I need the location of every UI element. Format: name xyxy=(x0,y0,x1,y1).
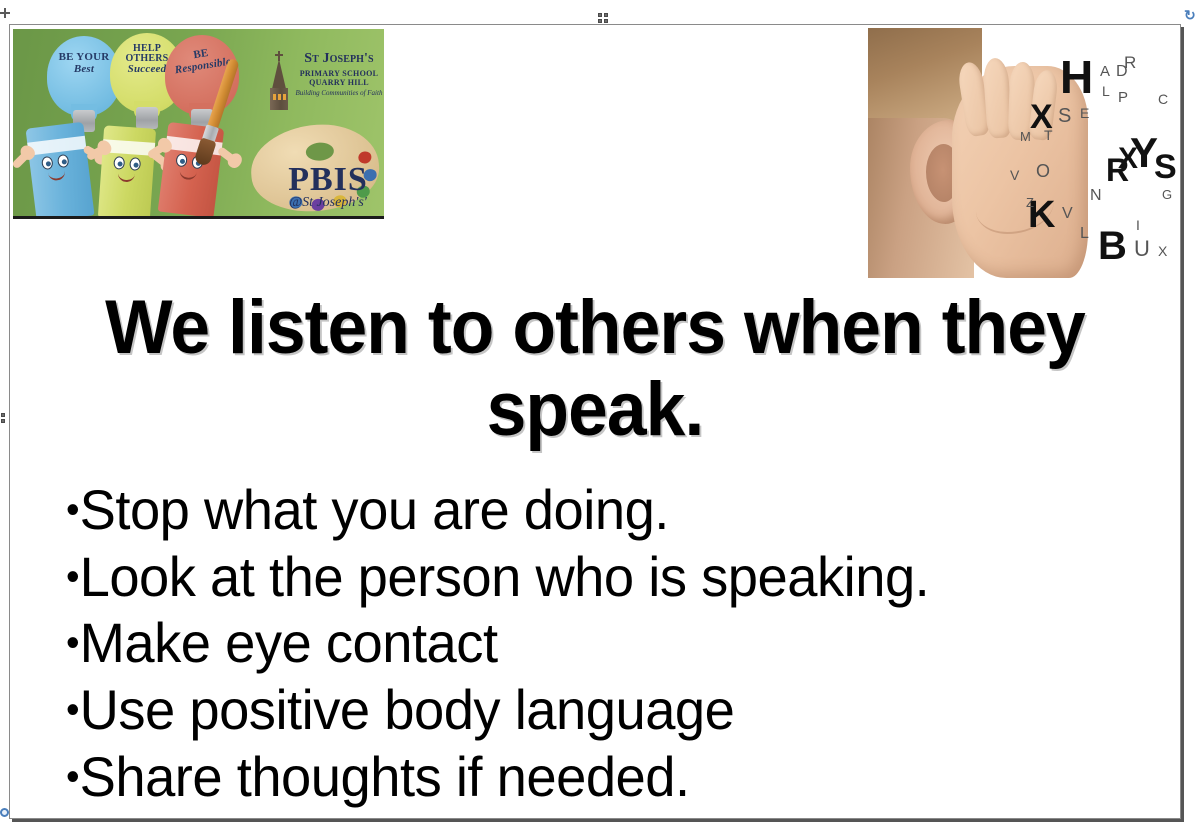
list-item-label: Make eye contact xyxy=(80,611,498,674)
eye-icon xyxy=(129,157,141,171)
handle-dot xyxy=(598,13,602,17)
floating-letter: I xyxy=(1136,218,1140,232)
tube-face xyxy=(39,153,77,179)
pbis-wordmark-sub: @St Joseph's' xyxy=(268,195,384,210)
floating-letter: H xyxy=(1060,54,1093,100)
floating-letter: B xyxy=(1098,226,1127,266)
paint-tube-character-green xyxy=(98,125,156,219)
eye-icon xyxy=(113,156,125,170)
list-item-label: Look at the person who is speaking. xyxy=(80,545,930,608)
floating-letter: O xyxy=(1036,162,1050,180)
window xyxy=(273,94,276,100)
bullet-icon: • xyxy=(66,488,80,532)
handle-dot xyxy=(1,419,5,423)
bullet-icon: • xyxy=(66,621,80,665)
pbis-banner-image[interactable]: BE YOUR Best HELP OTHERS Succeed xyxy=(13,29,384,219)
arm xyxy=(217,146,238,164)
handle-dot xyxy=(598,19,602,23)
window xyxy=(283,94,286,100)
school-name-block: St Joseph's PRIMARY SCHOOL QUARRY HILL B… xyxy=(289,51,384,97)
floating-letter: C xyxy=(1158,92,1168,106)
floating-letter: L xyxy=(1080,226,1089,242)
school-tagline: Building Communities of Faith xyxy=(289,89,384,97)
palette-thumb-hole xyxy=(305,142,334,162)
school-name-line2: PRIMARY SCHOOL xyxy=(289,69,384,78)
list-item[interactable]: •Look at the person who is speaking. xyxy=(66,544,1114,611)
tube-band xyxy=(27,136,86,156)
floating-letter: R xyxy=(1106,154,1129,186)
list-item[interactable]: •Share thoughts if needed. xyxy=(66,744,1114,811)
pbis-wordmark-main: PBIS xyxy=(268,163,384,197)
smile-icon xyxy=(117,171,135,182)
bullet-icon: • xyxy=(66,555,80,599)
corner-cross-marker[interactable] xyxy=(0,8,10,18)
list-item[interactable]: •Make eye contact xyxy=(66,610,1114,677)
window xyxy=(278,94,281,100)
list-item-label: Use positive body language xyxy=(80,678,735,741)
floating-letter: A xyxy=(1100,64,1110,79)
floating-letter: P xyxy=(1118,90,1128,105)
eye-icon xyxy=(41,156,54,170)
pbis-wordmark: PBIS @St Joseph's' xyxy=(268,163,384,210)
list-item[interactable]: •Stop what you are doing. xyxy=(66,477,1114,544)
slide-editor-canvas: ↻ BE YOUR Best HELP xyxy=(0,0,1200,832)
steeple-tower xyxy=(270,88,288,110)
eye-icon xyxy=(57,154,70,168)
floating-letter: N xyxy=(1090,188,1102,204)
handle-dot xyxy=(1,413,5,417)
church-steeple-icon xyxy=(268,51,290,113)
bulb-neck xyxy=(136,107,158,129)
handle-dot xyxy=(604,13,608,17)
slide-bullet-list[interactable]: •Stop what you are doing. •Look at the p… xyxy=(66,477,1146,810)
list-item-label: Share thoughts if needed. xyxy=(80,745,690,808)
floating-letter: X xyxy=(1158,244,1167,258)
floating-letter: Z xyxy=(1026,196,1034,209)
slide-frame[interactable]: BE YOUR Best HELP OTHERS Succeed xyxy=(9,24,1181,819)
floating-letter: V xyxy=(1062,206,1073,222)
mid-left-resize-handle[interactable] xyxy=(1,413,5,423)
floating-letter: D xyxy=(1116,64,1128,80)
floating-letter: S xyxy=(1154,150,1177,184)
rotate-icon[interactable]: ↻ xyxy=(1184,9,1197,22)
bottom-left-round-handle[interactable] xyxy=(0,808,9,817)
floating-letter: U xyxy=(1134,238,1150,260)
floating-letter: S xyxy=(1058,106,1071,126)
floating-letter: G xyxy=(1162,188,1172,201)
floating-letter: V xyxy=(1010,168,1019,182)
eye-icon xyxy=(175,153,188,167)
top-center-resize-handle[interactable] xyxy=(598,13,608,23)
paint-tube-character-blue xyxy=(25,122,94,219)
tube-face xyxy=(111,156,148,180)
listening-ear-image[interactable]: H X S R Y K B U D A L M O V Z T C N P I xyxy=(868,28,1180,278)
floating-letter: L xyxy=(1102,84,1110,98)
steeple-roof xyxy=(272,59,286,89)
arm xyxy=(13,150,31,170)
floating-letter: T xyxy=(1044,128,1053,142)
school-name-main: St Joseph's xyxy=(289,51,384,67)
bullet-icon: • xyxy=(66,688,80,732)
list-item[interactable]: •Use positive body language xyxy=(66,677,1114,744)
slide-surface: BE YOUR Best HELP OTHERS Succeed xyxy=(10,25,1180,818)
smile-icon xyxy=(179,169,197,181)
list-item-label: Stop what you are doing. xyxy=(80,478,669,541)
bullet-icon: • xyxy=(66,755,80,799)
slide-title[interactable]: We listen to others when they speak. xyxy=(73,287,1116,451)
floating-letter: M xyxy=(1020,130,1031,143)
handle-dot xyxy=(604,19,608,23)
floating-letter: E xyxy=(1080,106,1089,120)
school-name-line3: QUARRY HILL xyxy=(289,78,384,87)
smile-icon xyxy=(48,169,66,181)
